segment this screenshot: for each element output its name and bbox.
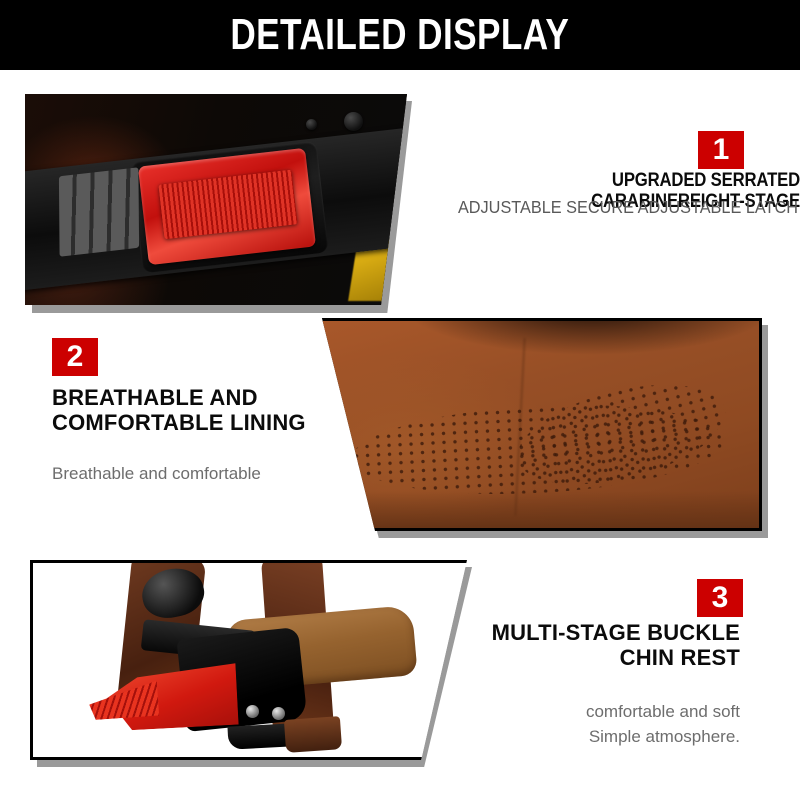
section-1-subtext: ADJUSTABLE SECURE ADJUSTABLE LATCH bbox=[456, 195, 798, 220]
product-image-chin-rest bbox=[30, 560, 467, 760]
page-title: DETAILED DISPLAY bbox=[231, 13, 570, 57]
section-3-headline: MULTI-STAGE BUCKLE CHIN REST bbox=[430, 621, 740, 670]
rivet-shape bbox=[272, 707, 285, 720]
product-image-buckle-closeup bbox=[25, 94, 407, 305]
section-3-subtext: comfortable and soft Simple atmosphere. bbox=[430, 700, 740, 749]
product-image-breathable-lining bbox=[312, 318, 762, 531]
panel-3-background bbox=[33, 563, 467, 757]
header-bar: DETAILED DISPLAY bbox=[0, 0, 800, 70]
step-badge-3: 3 bbox=[697, 579, 743, 617]
step-badge-2: 2 bbox=[52, 338, 98, 376]
buckle-screw-shape bbox=[306, 119, 317, 130]
detailed-display-page: DETAILED DISPLAY 1 UPGRADED SERRATED CAR… bbox=[0, 0, 800, 800]
step-badge-1: 1 bbox=[698, 131, 744, 169]
panel-2-leather-background bbox=[315, 321, 759, 528]
section-2-subtext: Breathable and comfortable bbox=[52, 462, 362, 487]
buckle-pin-shape bbox=[344, 112, 363, 131]
leather-shadow-band bbox=[315, 491, 759, 528]
bottom-leather-shape bbox=[284, 716, 343, 753]
rivet-shape bbox=[246, 705, 259, 718]
serrated-teeth-shape bbox=[59, 167, 139, 257]
section-2-headline: BREATHABLE AND COMFORTABLE LINING bbox=[52, 386, 352, 435]
